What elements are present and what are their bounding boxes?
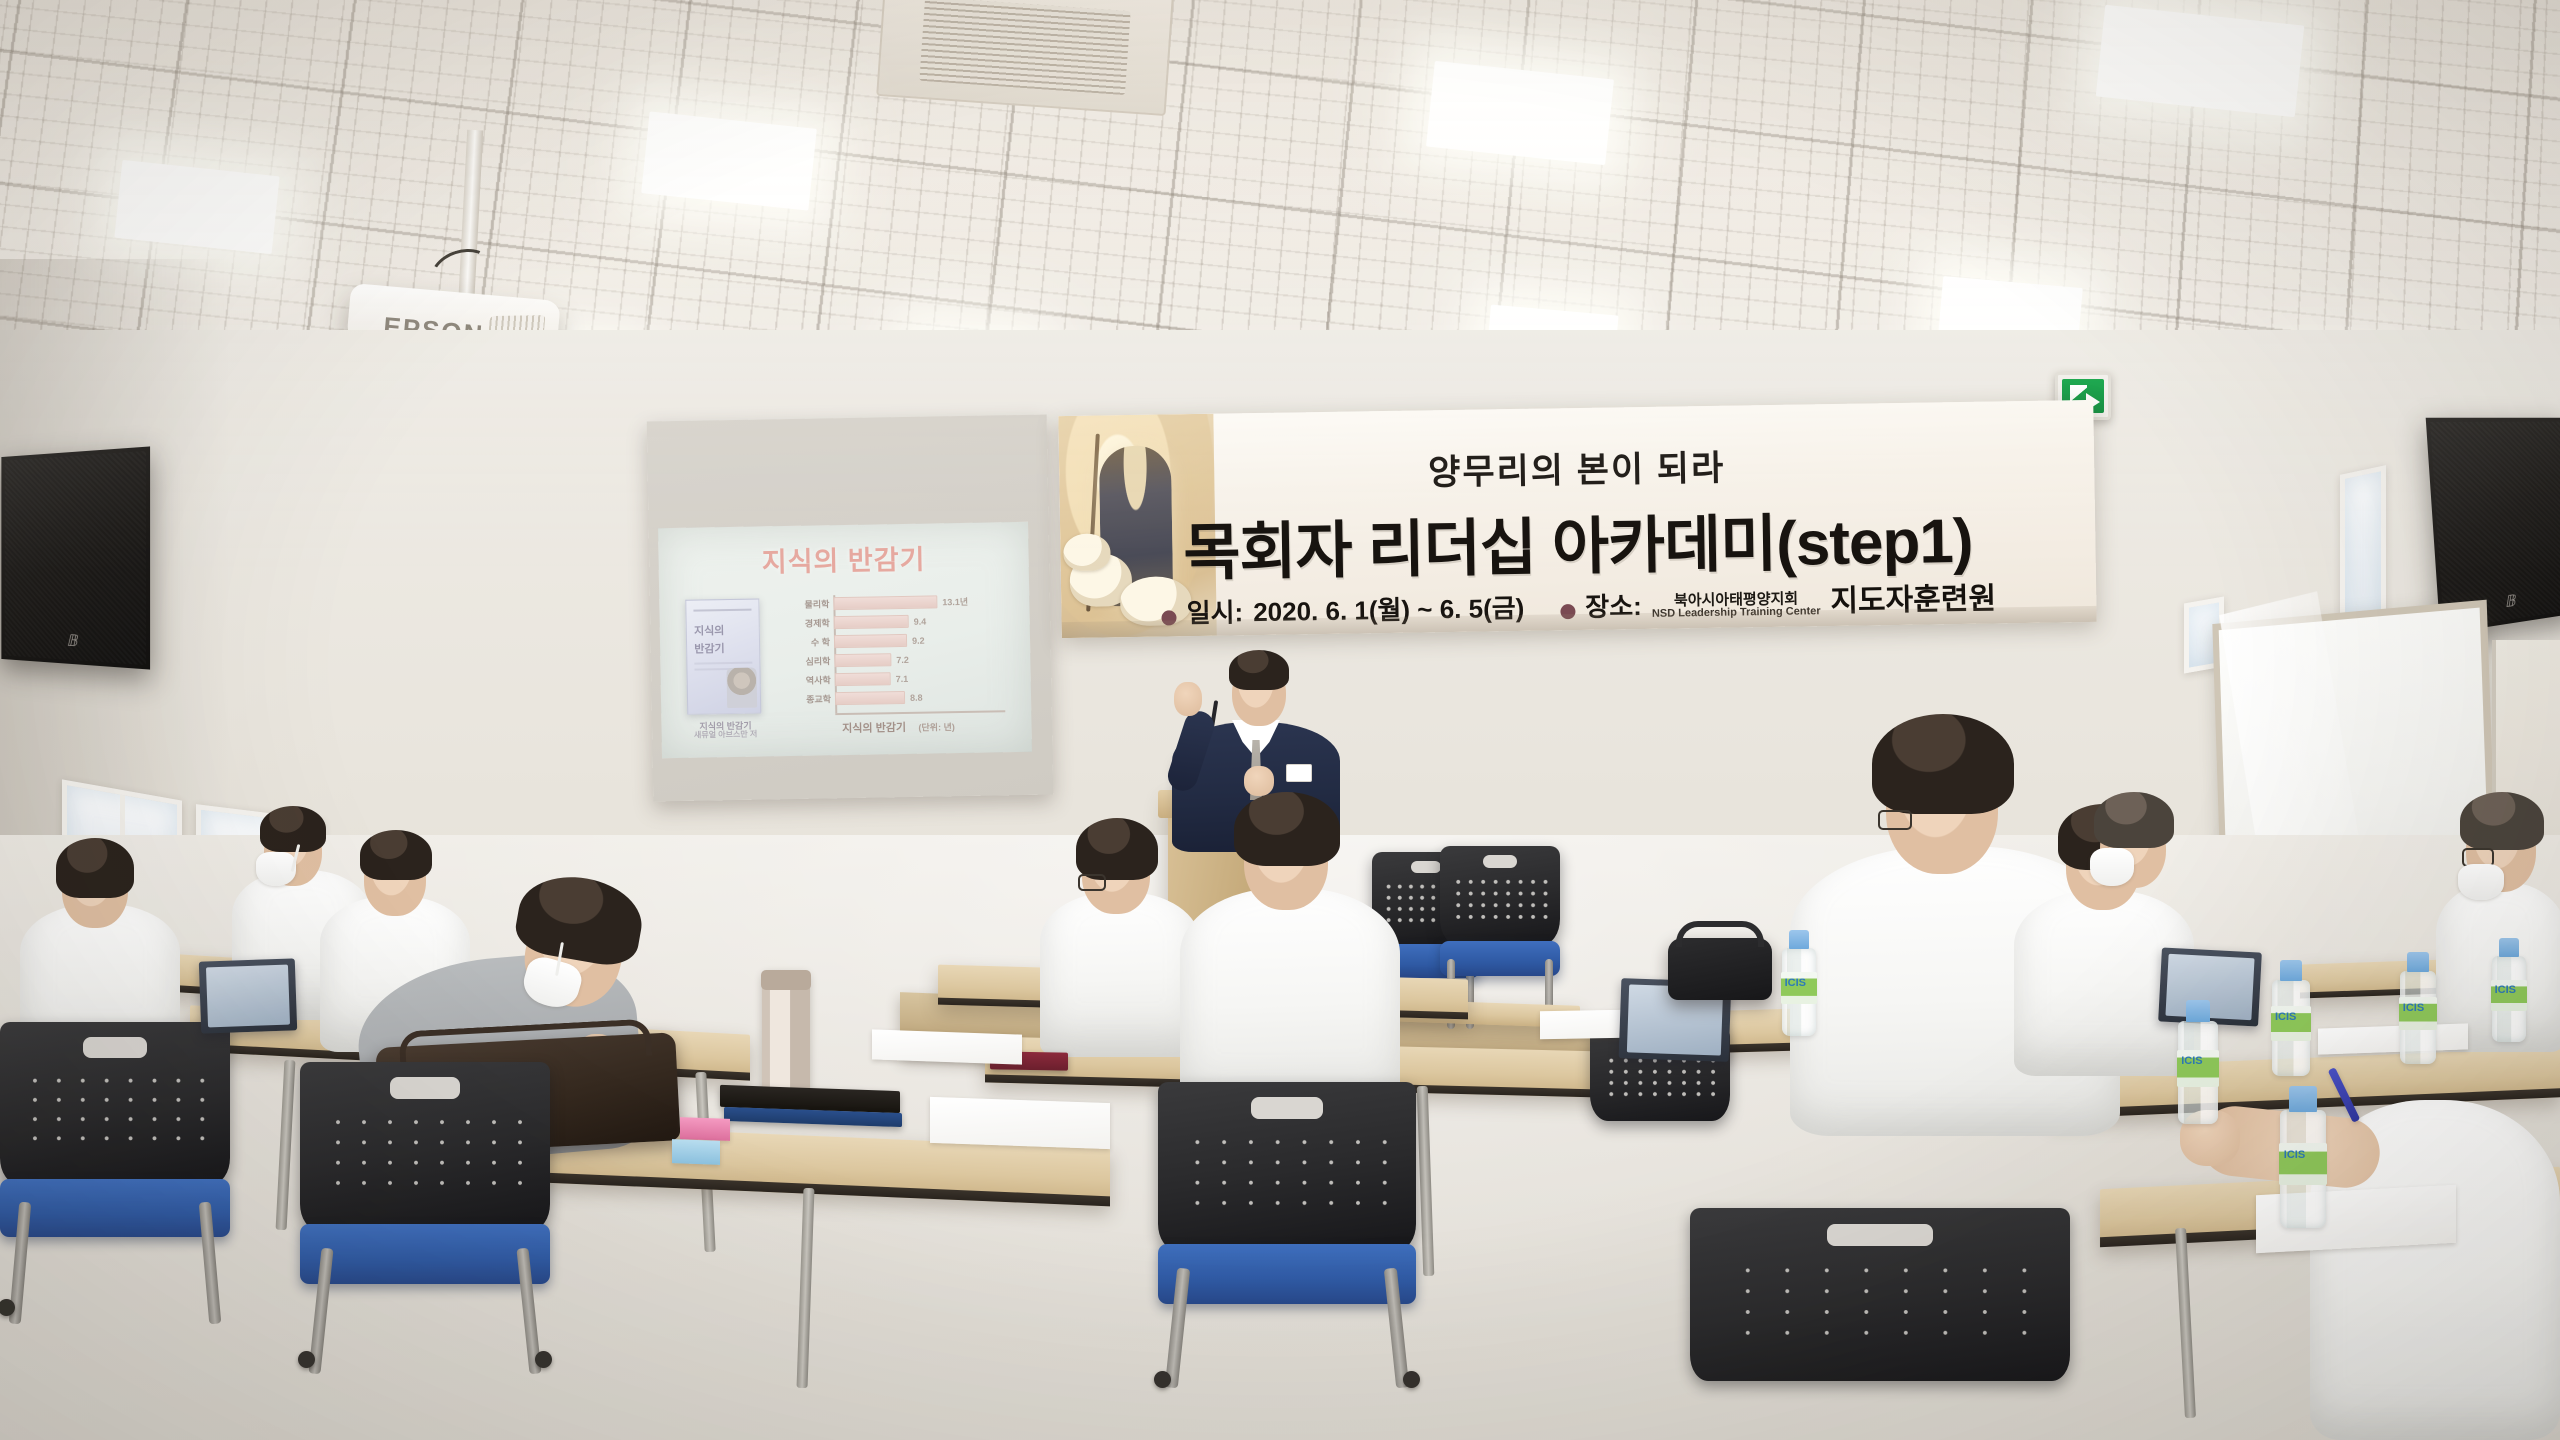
classroom-chair[interactable] <box>1690 1208 2070 1440</box>
chart-bar <box>834 615 909 629</box>
bottle-cap <box>2499 938 2519 957</box>
chart-bar <box>835 672 891 686</box>
attendee-glasses <box>1078 874 1106 891</box>
attendee-glasses <box>1878 810 1912 830</box>
chair-perforations <box>1728 1260 2032 1340</box>
classroom-chair[interactable] <box>1158 1082 1416 1382</box>
book-cover-title-line2: 반감기 <box>694 640 725 657</box>
bottle-cap <box>2289 1086 2317 1112</box>
chair-handle-slot <box>1827 1224 1933 1247</box>
water-bottle: ICIS <box>1782 930 1816 1036</box>
presenter-hair <box>1229 650 1289 690</box>
chair-seat <box>1158 1244 1416 1304</box>
chair-backrest <box>1440 846 1560 945</box>
bottle-brand-text: ICIS <box>2275 1011 2296 1023</box>
chart-row: 종교학 8.8 <box>779 689 1017 706</box>
chart-bar <box>834 653 891 667</box>
bottle-label: ICIS <box>2399 997 2437 1031</box>
bottle-brand-text: ICIS <box>2495 984 2516 996</box>
classroom-chair[interactable] <box>300 1062 550 1362</box>
water-bottle: ICIS <box>2492 938 2526 1042</box>
chair-handle-slot <box>83 1037 147 1058</box>
water-bottle: ICIS <box>2280 1086 2326 1228</box>
attendee-face-mask <box>2090 848 2134 886</box>
chart-unit-label: (단위: 년) <box>918 722 955 733</box>
bag-handle <box>1676 921 1763 947</box>
ceiling-air-vent <box>876 0 1174 116</box>
chair-backrest <box>1158 1082 1416 1250</box>
chair-perforations <box>23 1071 207 1146</box>
bottle-label: ICIS <box>2279 1143 2327 1186</box>
event-banner: 양무리의 본이 되라 목회자 리더십 아카데미(step1) 일시: 2020.… <box>1058 400 2096 638</box>
notepad <box>872 1029 1022 1064</box>
bottle-label: ICIS <box>2491 980 2527 1011</box>
chart-row: 수 학 9.2 <box>778 632 1016 649</box>
water-bottle: ICIS <box>2272 960 2310 1076</box>
slide-book-cover-image: 지식의 반감기 <box>685 598 761 714</box>
sticky-note <box>680 1117 730 1141</box>
chart-bar <box>833 595 937 610</box>
seminar-room-photo: EPSON 𝔹 𝔹 지식의 반감기 지식의 반감기 지식의 반감기 새뮤얼 아브… <box>0 0 2560 1440</box>
attendee-hair <box>2094 792 2174 848</box>
bottle-brand-text: ICIS <box>1785 977 1806 989</box>
travel-tumbler <box>762 970 810 1098</box>
chair-seat <box>0 1179 230 1237</box>
bottle-brand-text: ICIS <box>2403 1002 2424 1014</box>
water-bottle: ICIS <box>2400 952 2436 1064</box>
chair-handle-slot <box>1411 861 1441 873</box>
notepad <box>2318 1023 2468 1054</box>
chair-backrest <box>300 1062 550 1230</box>
attendee-face-mask <box>2458 864 2504 900</box>
right-wall-window <box>2340 465 2386 631</box>
chart-value-label: 7.2 <box>896 654 909 664</box>
chart-value-label: 9.2 <box>912 635 925 645</box>
chair-caster <box>535 1351 552 1368</box>
attendee-hair <box>2460 792 2544 850</box>
bottle-cap <box>2407 952 2429 972</box>
chair-perforations <box>1184 1132 1390 1209</box>
slide-book-caption-line2: 새뮤얼 아브스만 저 <box>676 728 776 741</box>
chart-value-label: 7.1 <box>896 673 909 683</box>
chart-value-label: 9.4 <box>914 616 927 626</box>
attendee-shirt <box>1180 888 1400 1108</box>
chair-caster <box>1154 1371 1171 1388</box>
bottle-label: ICIS <box>2177 1050 2219 1087</box>
attendee-hair <box>1234 792 1340 866</box>
chart-x-axis-title: 지식의 반감기 <box>842 722 906 735</box>
attendee <box>1040 800 1200 1050</box>
bottle-brand-text: ICIS <box>2284 1149 2305 1161</box>
chart-category-label: 수 학 <box>778 635 830 649</box>
classroom-chair[interactable] <box>0 1022 230 1312</box>
chair-handle-slot <box>1483 855 1517 868</box>
chair-caster <box>1403 1371 1420 1388</box>
chair-handle-slot <box>390 1077 460 1099</box>
laptop-briefcase <box>1668 938 1772 1000</box>
book-author-portrait <box>726 667 757 708</box>
chart-category-label: 심리학 <box>778 654 830 668</box>
chair-perforations <box>1452 876 1548 921</box>
chart-row: 심리학 7.2 <box>778 651 1016 668</box>
chart-bar <box>834 634 907 648</box>
chair-caster <box>298 1351 315 1368</box>
slide-bar-chart: 물리학 13.1년 경제학 9.4 수 학 9.2 심리학 7.2 역사학 <box>777 592 1017 726</box>
attendee-hair <box>260 806 326 852</box>
chart-category-label: 경제학 <box>778 616 830 630</box>
chart-row: 물리학 13.1년 <box>777 594 1015 611</box>
chart-category-label: 물리학 <box>777 597 829 611</box>
wall-speaker-right: 𝔹 <box>2426 418 2560 634</box>
chair-backrest <box>1690 1208 2070 1381</box>
slide-title: 지식의 반감기 <box>658 536 1029 581</box>
bottle-cap <box>2280 960 2303 981</box>
ceiling-light <box>114 160 279 254</box>
ceiling-light <box>641 111 817 210</box>
chair-seat <box>300 1224 550 1284</box>
eraser <box>672 1139 720 1165</box>
chair-handle-slot <box>1251 1097 1323 1119</box>
chair-perforations <box>1604 1055 1716 1099</box>
attendee-hair <box>1076 818 1158 880</box>
bottle-cap <box>1789 930 1809 949</box>
notepad <box>930 1097 1110 1149</box>
chart-value-label: 13.1년 <box>942 595 968 608</box>
chart-category-label: 역사학 <box>779 673 831 687</box>
chart-bar <box>835 691 905 705</box>
attendee-hair <box>56 838 134 898</box>
water-bottle: ICIS <box>2178 1000 2218 1124</box>
attendee-laptop[interactable] <box>199 958 297 1033</box>
chart-x-axis <box>835 710 1005 714</box>
chart-category-label: 종교학 <box>779 692 831 706</box>
bottle-label: ICIS <box>2271 1006 2311 1041</box>
tumbler-lid <box>761 970 812 990</box>
chart-row: 역사학 7.1 <box>779 670 1017 687</box>
projection-screen-surface: 지식의 반감기 지식의 반감기 지식의 반감기 새뮤얼 아브스만 저 물리학 1… <box>658 522 1032 758</box>
book-cover-title-line1: 지식의 <box>694 622 725 639</box>
attendee <box>1180 778 1400 1108</box>
bottle-label: ICIS <box>1781 972 1817 1004</box>
speaker-brand-label: 𝔹 <box>1 628 150 656</box>
chair-perforations <box>325 1112 525 1189</box>
chair-seat <box>1440 941 1560 976</box>
chart-row: 경제학 9.4 <box>778 613 1016 630</box>
chart-value-label: 8.8 <box>910 692 923 702</box>
bottle-cap <box>2186 1000 2210 1022</box>
presenter-pointing-hand <box>1174 682 1202 716</box>
attendee-hair <box>1872 714 2014 814</box>
wall-speaker-left: 𝔹 <box>1 446 150 669</box>
chart-footer: 지식의 반감기 (단위: 년) <box>779 716 1017 738</box>
attendee-shirt <box>1040 892 1200 1057</box>
chair-backrest <box>0 1022 230 1184</box>
bottle-brand-text: ICIS <box>2181 1055 2202 1067</box>
